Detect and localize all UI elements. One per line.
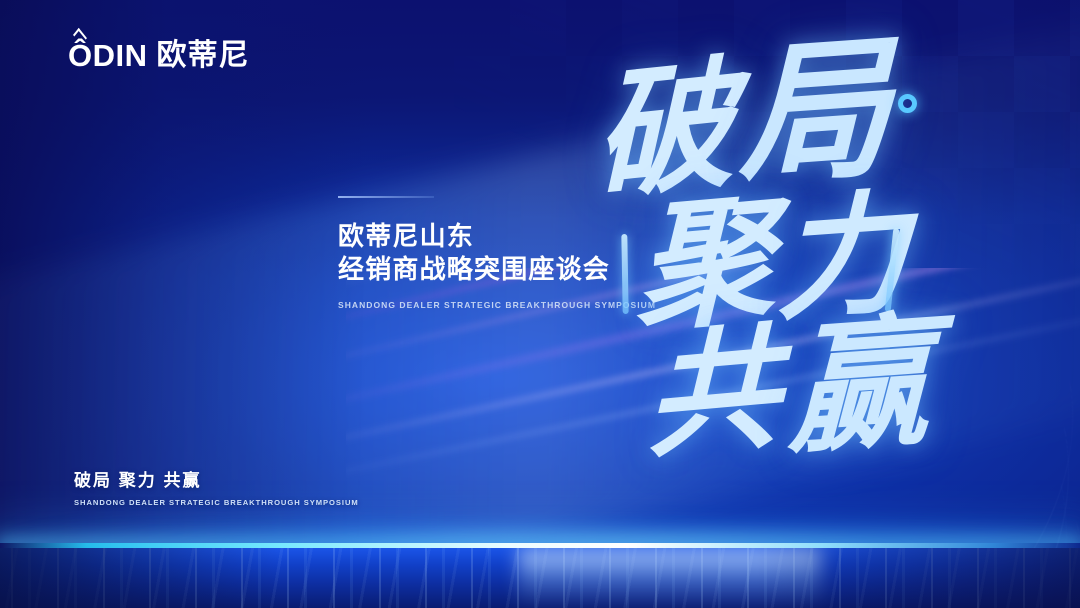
- headline-left-bar-mark: [621, 234, 628, 314]
- brand-logo-latin: ÔDIN: [68, 40, 148, 71]
- headline-char-ying: 赢: [787, 319, 931, 457]
- floor-right-shade: [756, 548, 1080, 608]
- title-divider-rule: [338, 196, 434, 198]
- brand-logo-circumflex-o: Ô: [68, 40, 93, 71]
- circle-accent-icon: [898, 94, 917, 113]
- headline-char-ju: 局: [738, 41, 890, 189]
- floor-left-shade: [0, 548, 281, 608]
- headline-char-ju2: 聚: [636, 198, 773, 335]
- brand-logo-latin-rest: DIN: [93, 38, 148, 73]
- headline-char-po: 破: [593, 62, 734, 203]
- floor-panel: [0, 548, 1080, 608]
- footer-slogan-block: 破局 聚力 共赢 SHANDONG DEALER STRATEGIC BREAK…: [74, 466, 359, 507]
- event-banner: ÔDIN 欧蒂尼 欧蒂尼山东 经销商战略突围座谈会 SHANDONG DEALE…: [0, 0, 1080, 608]
- footer-slogan-chinese: 破局 聚力 共赢: [74, 466, 359, 491]
- headline-calligraphy: 破 局 聚 力 共 赢: [580, 52, 1000, 472]
- footer-slogan-english: SHANDONG DEALER STRATEGIC BREAKTHROUGH S…: [74, 498, 359, 507]
- brand-logo-chinese: 欧蒂尼: [157, 41, 250, 71]
- headline-char-gong: 共: [646, 328, 780, 461]
- brand-logo: ÔDIN 欧蒂尼: [68, 40, 250, 71]
